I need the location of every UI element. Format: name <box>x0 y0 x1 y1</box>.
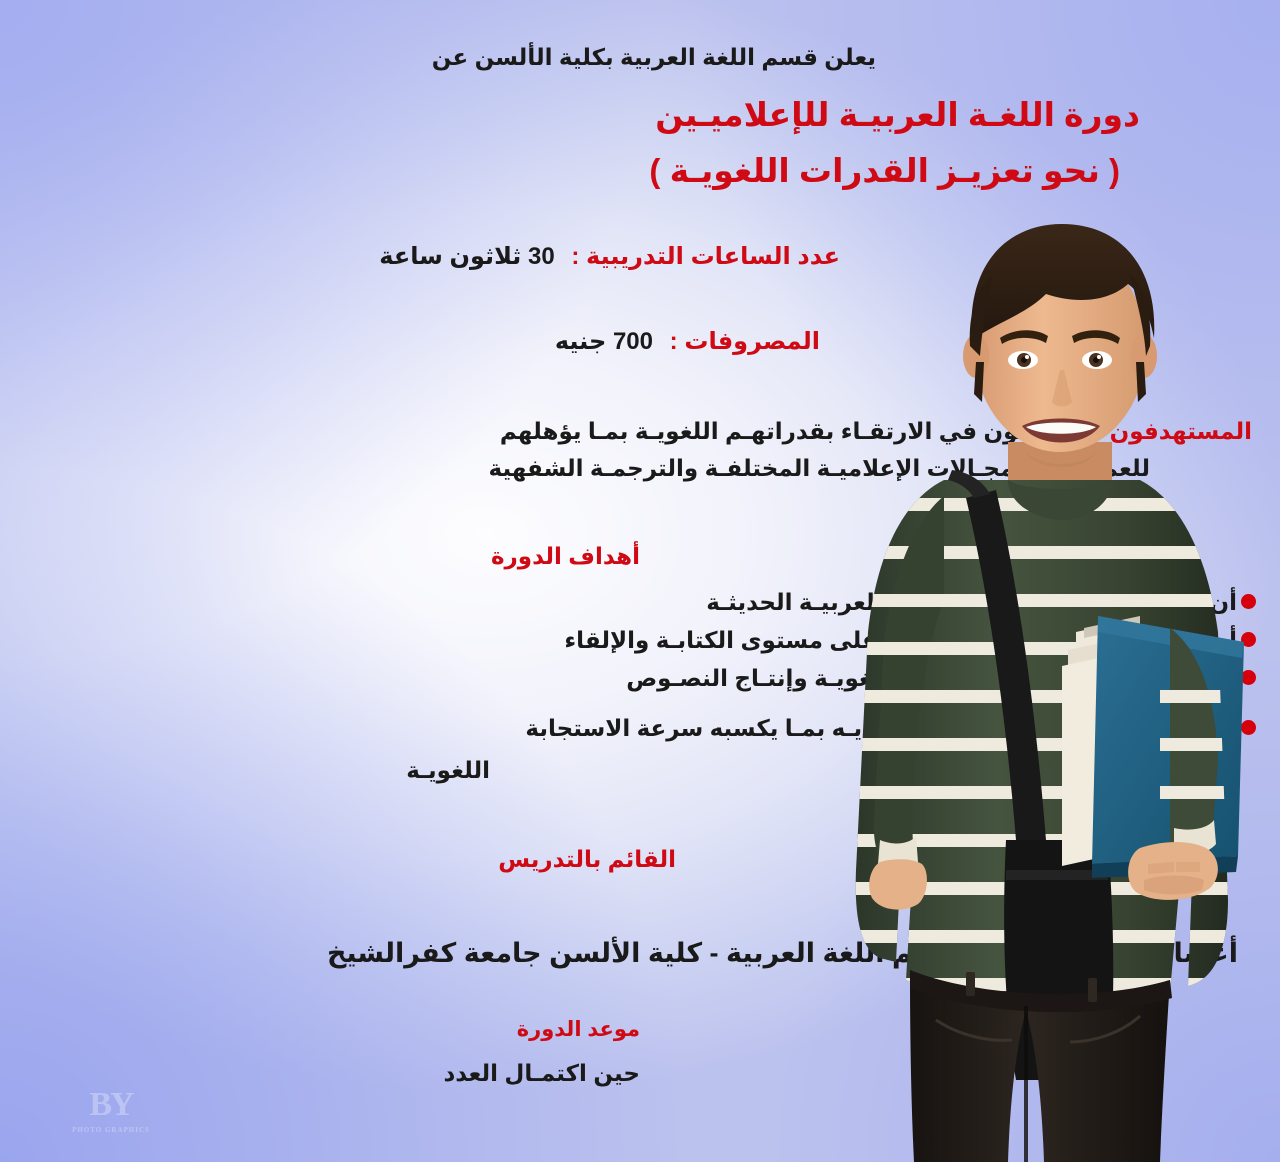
poster-title-line1: دورة اللغـة العربيـة للإعلاميـين <box>655 96 1140 134</box>
fees-value: 700 جنيه <box>555 328 653 355</box>
goals-heading: أهداف الدورة <box>491 543 640 569</box>
fees-row: المصروفات : 700 جنيه <box>555 328 820 356</box>
training-hours-value: 30 ثلاثون ساعة <box>379 243 554 270</box>
schedule-body: حين اكتمـال العدد <box>443 1060 640 1086</box>
course-poster: يعلن قسم اللغة العربية بكلية الألسن عن د… <box>0 0 1280 1162</box>
schedule-heading: موعد الدورة <box>517 1018 640 1042</box>
training-hours-row: عدد الساعات التدريبية : 30 ثلاثون ساعة <box>379 243 840 271</box>
announcement-line: يعلن قسم اللغة العربية بكلية الألسن عن <box>432 44 876 70</box>
watermark-logo: BY PHOTO GRAPHICS <box>56 1088 166 1146</box>
watermark-subtext: PHOTO GRAPHICS <box>56 1126 166 1134</box>
student-photo <box>840 180 1280 1162</box>
goal-item-4-wrap: اللغويـة <box>406 757 490 783</box>
teaching-heading: القائم بالتدريس <box>498 846 676 872</box>
fees-label: المصروفات : <box>670 328 820 355</box>
watermark-mark: BY <box>56 1088 166 1122</box>
training-hours-label: عدد الساعات التدريبية : <box>571 243 840 270</box>
